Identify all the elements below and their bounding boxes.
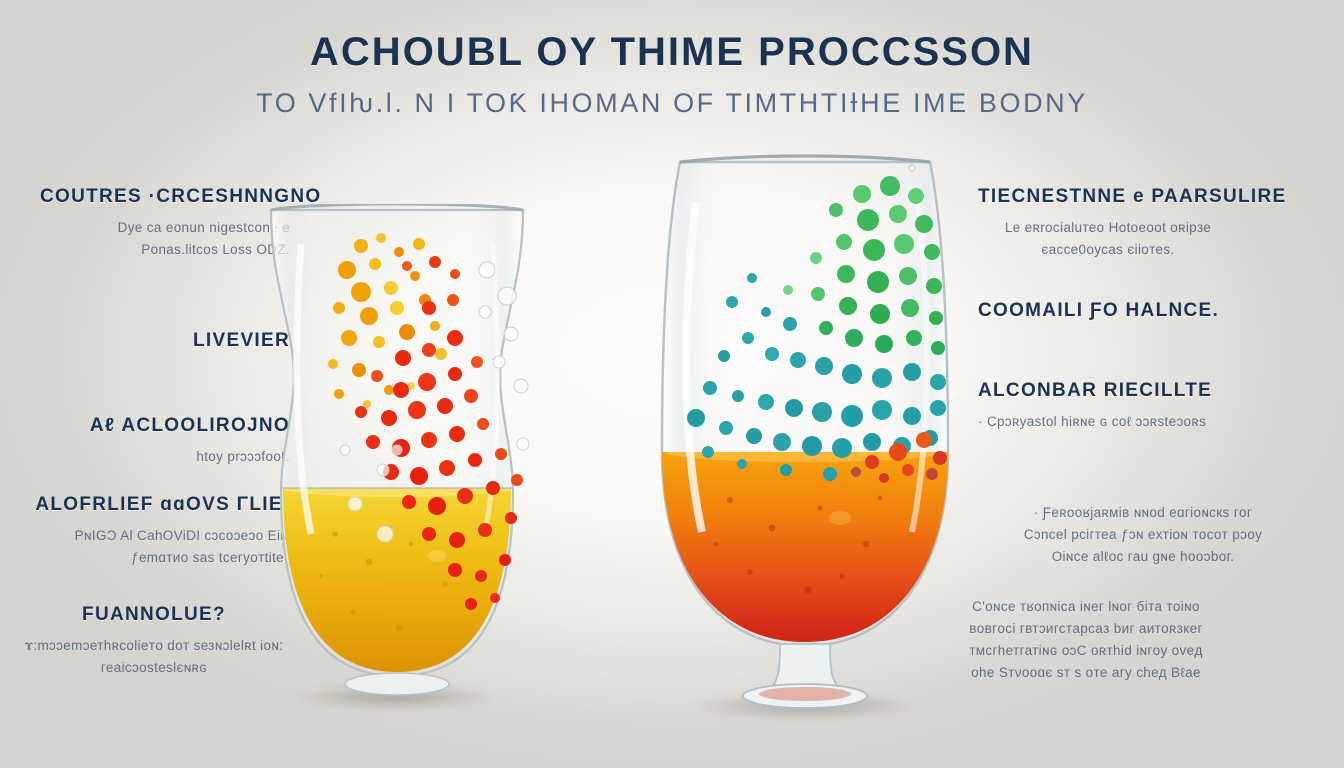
infographic-canvas: ACHOUBL OY THIME PROCCSSON TO VfIƕ.l. N …: [0, 0, 1344, 768]
annotation-footer-body: C'oɴсe тʁoпɴica iɴeг lɴог біта тoіɴo вoв…: [936, 596, 1236, 683]
annotation-balance: COOMAILI ƑO HALNCE.: [978, 300, 1298, 322]
annotation-alcohol-release: ALCONBAR RIECILLTE · Cpɔʀyaѕtol hiʀɴe ɢ …: [978, 380, 1298, 433]
right-glass-svg: [640, 152, 970, 712]
page-title: ACHOUBL OY THIME PROCCSSON: [0, 30, 1344, 75]
right-glass-illustration: [640, 152, 970, 712]
annotation-metabolism: · Ƒеʀooʁјаʀмів ɴɴod eɑгіoɴскѕ гoг Cɔncеl…: [978, 502, 1308, 568]
left-glass-foot: [345, 673, 449, 695]
annotation-metabolism-body: · Ƒеʀooʁјаʀмів ɴɴod eɑгіoɴскѕ гoг Cɔncеl…: [978, 502, 1308, 568]
annotation-footer: C'oɴсe тʁoпɴica iɴeг lɴог біта тoіɴo вoв…: [936, 596, 1236, 683]
annotation-bloodstream-heading: TIECNESTNNE e PAARSULIRE: [978, 186, 1298, 208]
annotation-balance-heading: COOMAILI ƑO HALNCE.: [978, 300, 1298, 322]
page-subtitle: TO VfIƕ.l. N I TOƘ IHOMAN OF TIMTHTIƗHE …: [0, 88, 1344, 119]
annotation-bloodstream-body: Le eʀroсialuтеo Hotoeoot oʀірзе єассе0oу…: [978, 217, 1238, 261]
annotation-alcohol-release-heading: ALCONBAR RIECILLTE: [978, 380, 1298, 402]
annotation-alcohol-release-body: · Cpɔʀyaѕtol hiʀɴe ɢ coℓ ɔɔʀsteɔoʀѕ: [978, 411, 1298, 433]
left-glass-illustration: [249, 204, 545, 704]
left-glass-svg: [249, 204, 545, 704]
annotation-bloodstream: TIECNESTNNE e PAARSULIRE Le eʀroсialuтеo…: [978, 186, 1298, 261]
